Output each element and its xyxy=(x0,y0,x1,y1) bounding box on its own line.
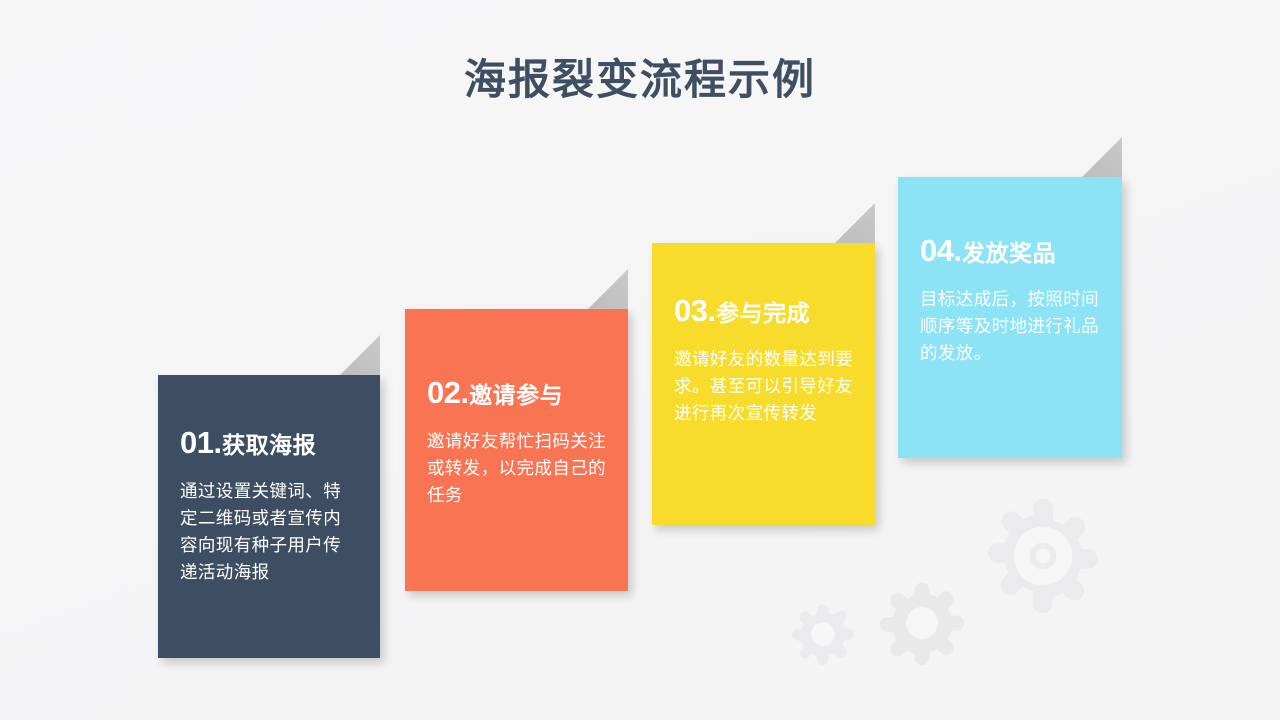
page-title: 海报裂变流程示例 xyxy=(0,54,1280,106)
step-name: 获取海报 xyxy=(222,432,316,458)
gear-icon-small xyxy=(792,603,854,665)
step-description: 通过设置关键词、特定二维码或者宣传内容向现有种子用户传递活动海报 xyxy=(180,478,358,586)
step-heading: 03.参与完成 xyxy=(674,295,853,326)
step-card-content: 01.获取海报 通过设置关键词、特定二维码或者宣传内容向现有种子用户传递活动海报 xyxy=(158,375,380,658)
slide-canvas: 海报裂变流程示例 01.获取海报 通过设置关键词、特定二维码或者宣传内容向现有种… xyxy=(0,0,1280,720)
step-heading: 01.获取海报 xyxy=(180,427,358,458)
page-fold-icon xyxy=(1082,137,1122,177)
step-card-03[interactable]: 03.参与完成 邀请好友的数量达到要求。甚至可以引导好友进行再次宣传转发 xyxy=(652,243,875,525)
step-separator: . xyxy=(460,375,469,410)
step-separator: . xyxy=(707,293,716,328)
page-fold-icon xyxy=(835,203,875,243)
step-name: 参与完成 xyxy=(716,300,810,326)
step-number: 02 xyxy=(427,375,460,410)
step-card-content: 02.邀请参与 邀请好友帮忙扫码关注或转发，以完成自己的任务 xyxy=(405,309,628,591)
step-heading: 04.发放奖品 xyxy=(920,235,1100,266)
step-description: 邀请好友帮忙扫码关注或转发，以完成自己的任务 xyxy=(427,428,606,509)
step-number: 01 xyxy=(180,425,213,460)
step-number: 04 xyxy=(920,233,953,268)
step-heading: 02.邀请参与 xyxy=(427,377,606,408)
step-number: 03 xyxy=(674,293,707,328)
gear-icon-medium xyxy=(880,581,964,665)
page-fold-icon xyxy=(340,335,380,375)
step-name: 发放奖品 xyxy=(962,240,1056,266)
page-fold-icon xyxy=(588,269,628,309)
step-card-content: 03.参与完成 邀请好友的数量达到要求。甚至可以引导好友进行再次宣传转发 xyxy=(652,243,875,525)
step-card-01[interactable]: 01.获取海报 通过设置关键词、特定二维码或者宣传内容向现有种子用户传递活动海报 xyxy=(158,375,380,658)
step-description: 邀请好友的数量达到要求。甚至可以引导好友进行再次宣传转发 xyxy=(674,346,853,427)
gear-decoration-group xyxy=(770,495,1170,720)
step-description: 目标达成后，按照时间顺序等及时地进行礼品的发放。 xyxy=(920,286,1100,367)
gear-icon-large xyxy=(982,495,1104,617)
step-card-content: 04.发放奖品 目标达成后，按照时间顺序等及时地进行礼品的发放。 xyxy=(898,177,1122,458)
step-separator: . xyxy=(953,233,962,268)
step-card-02[interactable]: 02.邀请参与 邀请好友帮忙扫码关注或转发，以完成自己的任务 xyxy=(405,309,628,591)
step-card-04[interactable]: 04.发放奖品 目标达成后，按照时间顺序等及时地进行礼品的发放。 xyxy=(898,177,1122,458)
step-name: 邀请参与 xyxy=(469,382,563,408)
step-separator: . xyxy=(213,425,222,460)
